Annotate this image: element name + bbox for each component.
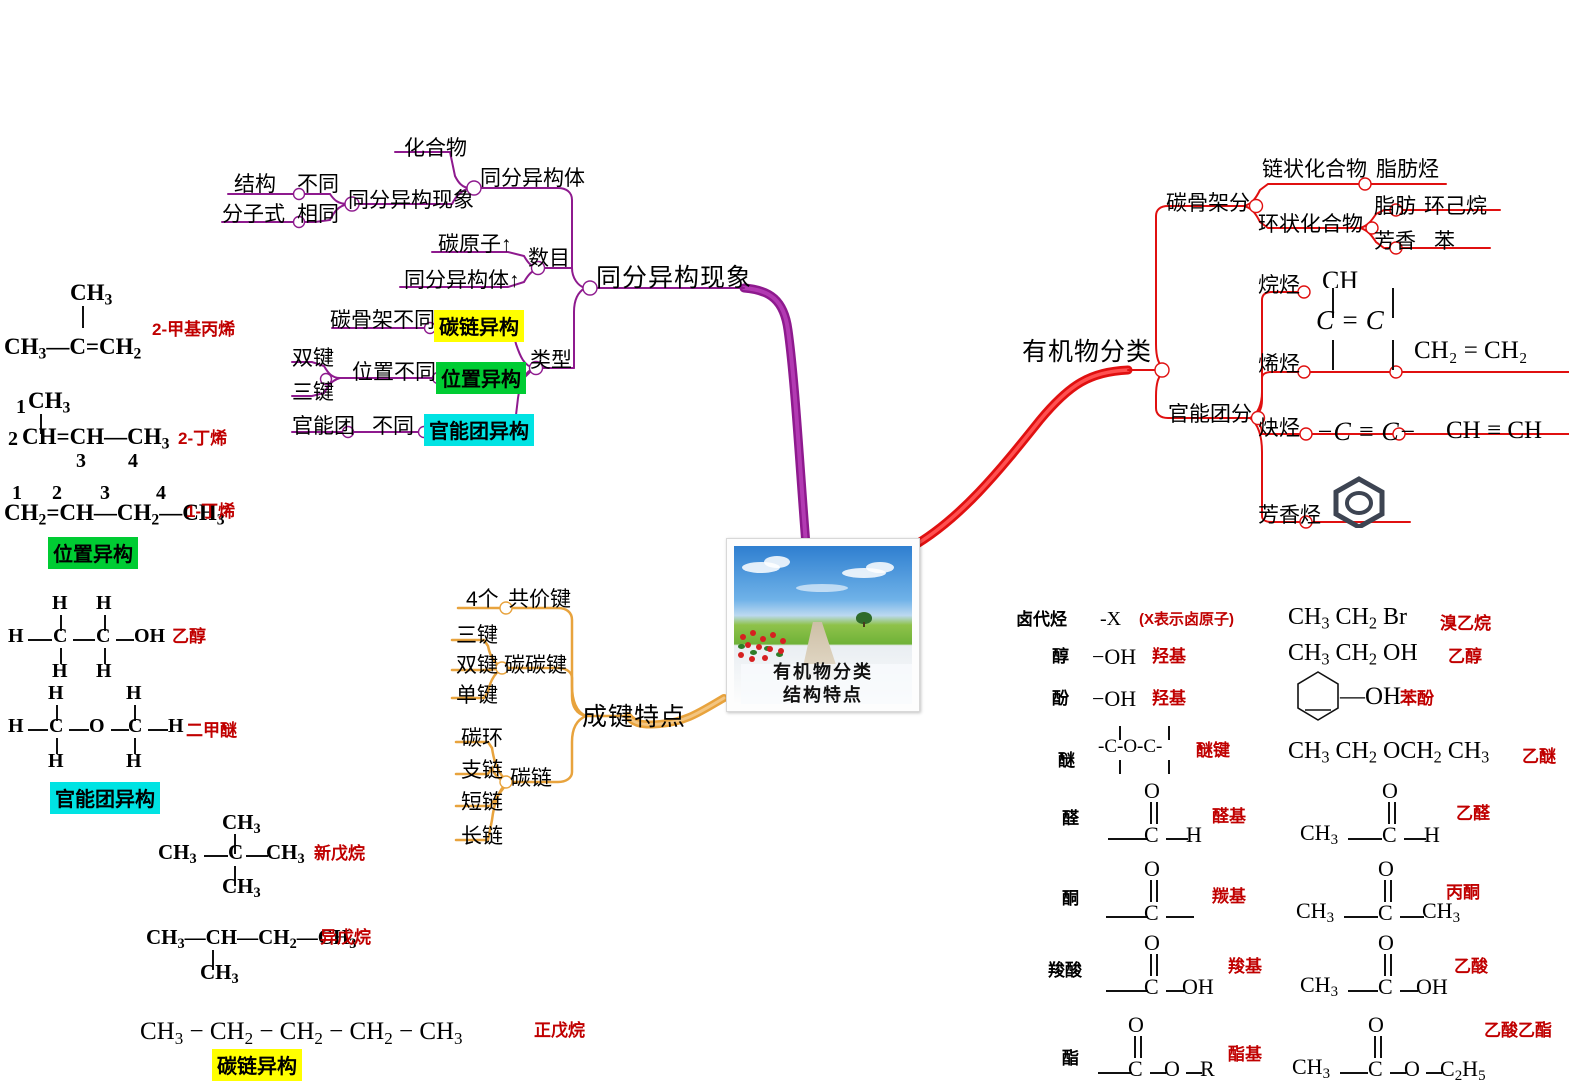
formula-2-butene-top: CH3: [28, 388, 70, 417]
node-short-chain[interactable]: 短链: [461, 792, 503, 813]
node-cyclohexane: 环己烷: [1424, 196, 1487, 217]
center-title: 有机物分类 结构特点: [727, 661, 919, 707]
node-four-count[interactable]: 4个: [466, 589, 499, 610]
node-molecular-formula-qualifier: 相同: [297, 204, 339, 225]
node-carbon-carbon-bond[interactable]: 碳碳键: [504, 655, 567, 676]
center-title-line1: 有机物分类: [727, 661, 919, 684]
label-2-butene: 2-丁烯: [178, 430, 227, 447]
node-type[interactable]: 类型: [530, 350, 572, 371]
node-alkene[interactable]: 烯烃: [1258, 354, 1300, 375]
node-cyclic-compound[interactable]: 环状化合物: [1258, 214, 1363, 235]
fg-group-name-2: 羟基: [1152, 690, 1186, 707]
label-1-butene: 1-丁烯: [186, 503, 235, 520]
alkene-structure: C = C: [1316, 305, 1384, 336]
formula-n-pentane: CH3 − CH2 − CH2 − CH2 − CH3: [140, 1018, 463, 1049]
phenol-benzene-ring-icon: [1294, 670, 1342, 722]
fg-example-2: —OH: [1340, 683, 1401, 711]
node-functional-group[interactable]: 官能团: [292, 416, 355, 437]
fg-group-name-5: 羰基: [1212, 888, 1246, 905]
fg-example-name-4: 乙醛: [1456, 805, 1490, 822]
fg-example-name-2: 苯酚: [1400, 690, 1434, 707]
benzene-ring-icon: [1330, 476, 1388, 528]
fg-class-7: 酯: [1062, 1050, 1079, 1067]
alkyne-structure: −C ≡ C−: [1316, 417, 1416, 447]
node-isomerism-phenomenon[interactable]: 同分异构现象: [348, 190, 474, 211]
node-chain-compound[interactable]: 链状化合物: [1262, 159, 1367, 180]
center-node[interactable]: 有机物分类 结构特点: [726, 538, 920, 712]
fg-example-name-5: 丙酮: [1446, 884, 1480, 901]
center-title-line2: 结构特点: [727, 684, 919, 707]
fg-example-3: CH3 CH2 OCH2 CH3: [1288, 738, 1489, 768]
badge-chain-isomer-example: 碳链异构: [212, 1049, 302, 1081]
node-long-chain[interactable]: 长链: [461, 826, 503, 847]
node-classification-root[interactable]: 有机物分类: [1022, 340, 1152, 365]
fg-example-name-7: 乙酸乙酯: [1484, 1022, 1552, 1039]
number-1-butene2: 1: [16, 396, 26, 419]
node-triple-bond[interactable]: 三键: [292, 382, 334, 403]
node-aromatic-hydrocarbon[interactable]: 芳香烃: [1258, 505, 1321, 526]
fg-class-3: 醚: [1058, 752, 1075, 769]
ethene-example: CH₂ = CH₂: [1414, 337, 1528, 365]
badge-position-isomer[interactable]: 位置异构: [436, 362, 526, 394]
node-skeleton-differs[interactable]: 碳骨架不同: [330, 310, 435, 331]
node-single-bond-type[interactable]: 单键: [456, 685, 498, 706]
badge-position-isomer-example: 位置异构: [48, 537, 138, 569]
badge-functional-isomer-example: 官能团异构: [50, 782, 160, 814]
node-covalent-bond[interactable]: 共价键: [508, 589, 571, 610]
node-alkane[interactable]: 烷烃: [1258, 275, 1300, 296]
label-n-pentane: 正戊烷: [534, 1022, 585, 1039]
fg-class-4: 醛: [1062, 810, 1079, 827]
alkane-formula: CH: [1322, 266, 1358, 288]
label-dimethyl-ether: 二甲醚: [186, 722, 237, 739]
node-count[interactable]: 数目: [528, 248, 570, 269]
node-benzene: 苯: [1434, 231, 1455, 252]
node-bonding-root[interactable]: 成键特点: [582, 705, 686, 730]
fg-group-2: −OH: [1092, 686, 1136, 712]
badge-functional-isomer[interactable]: 官能团异构: [424, 414, 534, 446]
fg-group-name-1: 羟基: [1152, 648, 1186, 665]
acetylene-example: CH ≡ CH: [1446, 417, 1542, 445]
fg-group-name-0: (X表示卤原子): [1139, 612, 1234, 627]
label-ethanol: 乙醇: [172, 628, 206, 645]
node-structure[interactable]: 结构: [234, 174, 276, 195]
fg-group-0: -X: [1100, 608, 1121, 631]
number-4-butene2: 4: [128, 450, 138, 473]
badge-chain-isomer[interactable]: 碳链异构: [434, 310, 524, 342]
node-branched-chain[interactable]: 支链: [461, 760, 503, 781]
node-functional-differs: 不同: [372, 416, 414, 437]
node-structure-qualifier: 不同: [297, 174, 339, 195]
node-alkyne[interactable]: 炔烃: [1258, 418, 1300, 439]
node-compound[interactable]: 化合物: [404, 138, 467, 159]
node-triple-bond-type[interactable]: 三键: [456, 625, 498, 646]
fg-group-name-6: 羧基: [1228, 958, 1262, 975]
node-carbon-atom-up[interactable]: 碳原子↑: [438, 234, 512, 255]
formula-2-methylpropene-main: CH3—C=CH2: [4, 334, 141, 363]
node-molecular-formula[interactable]: 分子式: [222, 204, 285, 225]
node-alicyclic[interactable]: 脂肪: [1374, 196, 1416, 217]
node-double-bond-type[interactable]: 双键: [456, 655, 498, 676]
node-functional-class[interactable]: 官能团分: [1168, 404, 1252, 425]
node-double-bond[interactable]: 双键: [292, 348, 334, 369]
fg-example-name-6: 乙酸: [1454, 958, 1488, 975]
node-aliphatic-hydrocarbon[interactable]: 脂肪烃: [1376, 159, 1439, 180]
node-position-differs[interactable]: 位置不同: [352, 362, 436, 383]
label-isopentane: 异戊烷: [320, 929, 371, 946]
fg-example-name-3: 乙醚: [1522, 748, 1556, 765]
node-isomer-count-up[interactable]: 同分异构体↑: [404, 270, 520, 291]
fg-class-2: 酚: [1052, 690, 1069, 707]
label-neopentane: 新戊烷: [314, 845, 365, 862]
node-carbon-skeleton-class[interactable]: 碳骨架分: [1166, 193, 1250, 214]
fg-class-0: 卤代烃: [1016, 611, 1067, 628]
node-aromatic[interactable]: 芳香: [1374, 231, 1416, 252]
node-isomer-entity[interactable]: 同分异构体: [480, 168, 585, 189]
fg-class-1: 醇: [1052, 648, 1069, 665]
node-carbon-chain[interactable]: 碳链: [510, 768, 552, 789]
fg-example-name-1: 乙醇: [1448, 648, 1482, 665]
label-2-methylpropene: 2-甲基丙烯: [152, 321, 235, 338]
node-isomerism-root[interactable]: 同分异构现象: [596, 266, 752, 291]
number-2-butene2: 2: [8, 428, 18, 451]
node-carbon-ring[interactable]: 碳环: [461, 728, 503, 749]
fg-class-6: 羧酸: [1048, 962, 1082, 979]
formula-2-methylpropene-top: CH3: [70, 280, 112, 309]
fg-example-1: CH3 CH2 OH: [1288, 640, 1418, 670]
fg-group-name-4: 醛基: [1212, 808, 1246, 825]
fg-group-1: −OH: [1092, 644, 1136, 670]
fg-example-name-0: 溴乙烷: [1440, 615, 1491, 632]
fg-group-name-7: 酯基: [1228, 1046, 1262, 1063]
number-3-butene2: 3: [76, 450, 86, 473]
flower-bed: [736, 628, 790, 662]
formula-2-butene-main: CH=CH—CH3: [22, 424, 169, 453]
fg-example-0: CH3 CH2 Br: [1288, 604, 1407, 634]
fg-class-5: 酮: [1062, 890, 1079, 907]
fg-group-name-3: 醚键: [1196, 742, 1230, 759]
mindmap-canvas: 有机物分类 结构特点 同分异构现象 化合物 同分异构体 同分异构现象 结构 不同…: [0, 0, 1569, 1090]
